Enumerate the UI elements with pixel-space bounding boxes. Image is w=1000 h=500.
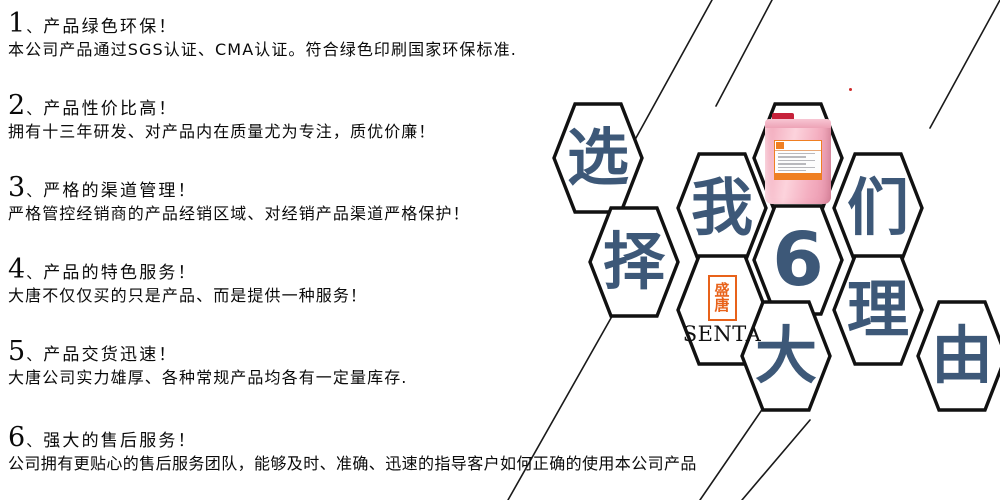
feature-title: 强大的售后服务！ <box>43 433 197 450</box>
feature-heading: 4 、 产品的特色服务！ <box>8 256 668 283</box>
label-bottom-bar <box>775 173 821 179</box>
feature-number: 6 <box>8 424 25 451</box>
bottle-neck <box>765 119 831 128</box>
hex-label-you: 由 <box>931 325 993 387</box>
product-jerrycan-image <box>761 110 835 206</box>
feature-body: 公司拥有更贴心的售后服务团队，能够及时、准确、迅速的指导客户如何正确的使用本公司… <box>8 454 998 474</box>
hex-label-da: 大 <box>755 325 817 387</box>
feature-separator: 、 <box>26 266 41 281</box>
feature-title: 产品绿色环保！ <box>43 19 177 36</box>
feature-body: 本公司产品通过SGS认证、CMA认证。符合绿色印刷国家环保标准. <box>8 40 668 60</box>
bottle-label <box>774 140 822 180</box>
poster-root: 1 、 产品绿色环保！ 本公司产品通过SGS认证、CMA认证。符合绿色印刷国家环… <box>0 0 1000 500</box>
diagonal-line-2 <box>716 0 772 106</box>
feature-number: 2 <box>8 92 25 119</box>
feature-heading: 1 、 产品绿色环保！ <box>8 10 668 37</box>
feature-body: 大唐不仅仅买的只是产品、而是提供一种服务！ <box>8 286 668 306</box>
logo-mark-seal: 盛 唐 <box>708 275 737 321</box>
hex-label-li: 理 <box>847 279 909 341</box>
logo-brand-latin: SENTA <box>683 322 762 346</box>
feature-heading: 6 、 强大的售后服务！ <box>8 424 998 451</box>
feature-separator: 、 <box>26 434 41 449</box>
label-text-line <box>778 160 815 161</box>
feature-title: 产品交货迅速！ <box>43 347 177 364</box>
feature-body: 大唐公司实力雄厚、各种常规产品均各有一定量库存. <box>8 368 668 388</box>
hex-cell-men[interactable]: 们 <box>832 152 924 264</box>
hex-cell-product[interactable] <box>752 102 844 214</box>
label-text-line <box>778 156 806 157</box>
hex-label-wo: 我 <box>691 177 753 239</box>
label-logo-square <box>776 142 784 149</box>
red-speck <box>849 88 852 91</box>
feature-title: 产品性价比高！ <box>43 101 177 118</box>
hex-label-xuan: 选 <box>567 127 629 189</box>
logo-char-bottom: 唐 <box>714 298 729 313</box>
feature-heading: 5 、 产品交货迅速！ <box>8 338 668 365</box>
hex-cell-xuan[interactable]: 选 <box>552 102 644 214</box>
feature-item-6: 6 、 强大的售后服务！ 公司拥有更贴心的售后服务团队，能够及时、准确、迅速的指… <box>8 424 998 474</box>
feature-separator: 、 <box>26 184 41 199</box>
label-text-line <box>778 153 815 154</box>
senta-logo: 盛 唐 SENTA <box>683 275 762 346</box>
feature-separator: 、 <box>26 348 41 363</box>
hex-label-six: 6 <box>772 223 824 297</box>
label-text-line <box>778 167 815 168</box>
hex-cell-ze[interactable]: 择 <box>588 206 680 318</box>
feature-list: 1 、 产品绿色环保！ 本公司产品通过SGS认证、CMA认证。符合绿色印刷国家环… <box>8 0 668 500</box>
feature-item-4: 4 、 产品的特色服务！ 大唐不仅仅买的只是产品、而是提供一种服务！ <box>8 256 668 306</box>
feature-item-5: 5 、 产品交货迅速！ 大唐公司实力雄厚、各种常规产品均各有一定量库存. <box>8 338 668 388</box>
label-header <box>775 141 821 151</box>
hex-label-men: 们 <box>847 177 909 239</box>
feature-separator: 、 <box>26 102 41 117</box>
feature-separator: 、 <box>26 20 41 35</box>
label-text-line <box>778 163 806 164</box>
feature-item-1: 1 、 产品绿色环保！ 本公司产品通过SGS认证、CMA认证。符合绿色印刷国家环… <box>8 10 668 60</box>
feature-title: 严格的渠道管理！ <box>43 183 197 200</box>
hex-cell-you[interactable]: 由 <box>916 300 1000 412</box>
feature-number: 5 <box>8 338 25 365</box>
hex-label-ze: 择 <box>603 231 665 293</box>
feature-number: 1 <box>8 10 25 37</box>
hex-cell-li[interactable]: 理 <box>832 254 924 366</box>
feature-number: 4 <box>8 256 25 283</box>
diagonal-line-3 <box>930 0 1000 128</box>
label-text-line <box>778 170 806 171</box>
feature-title: 产品的特色服务！ <box>43 265 197 282</box>
feature-number: 3 <box>8 174 25 201</box>
